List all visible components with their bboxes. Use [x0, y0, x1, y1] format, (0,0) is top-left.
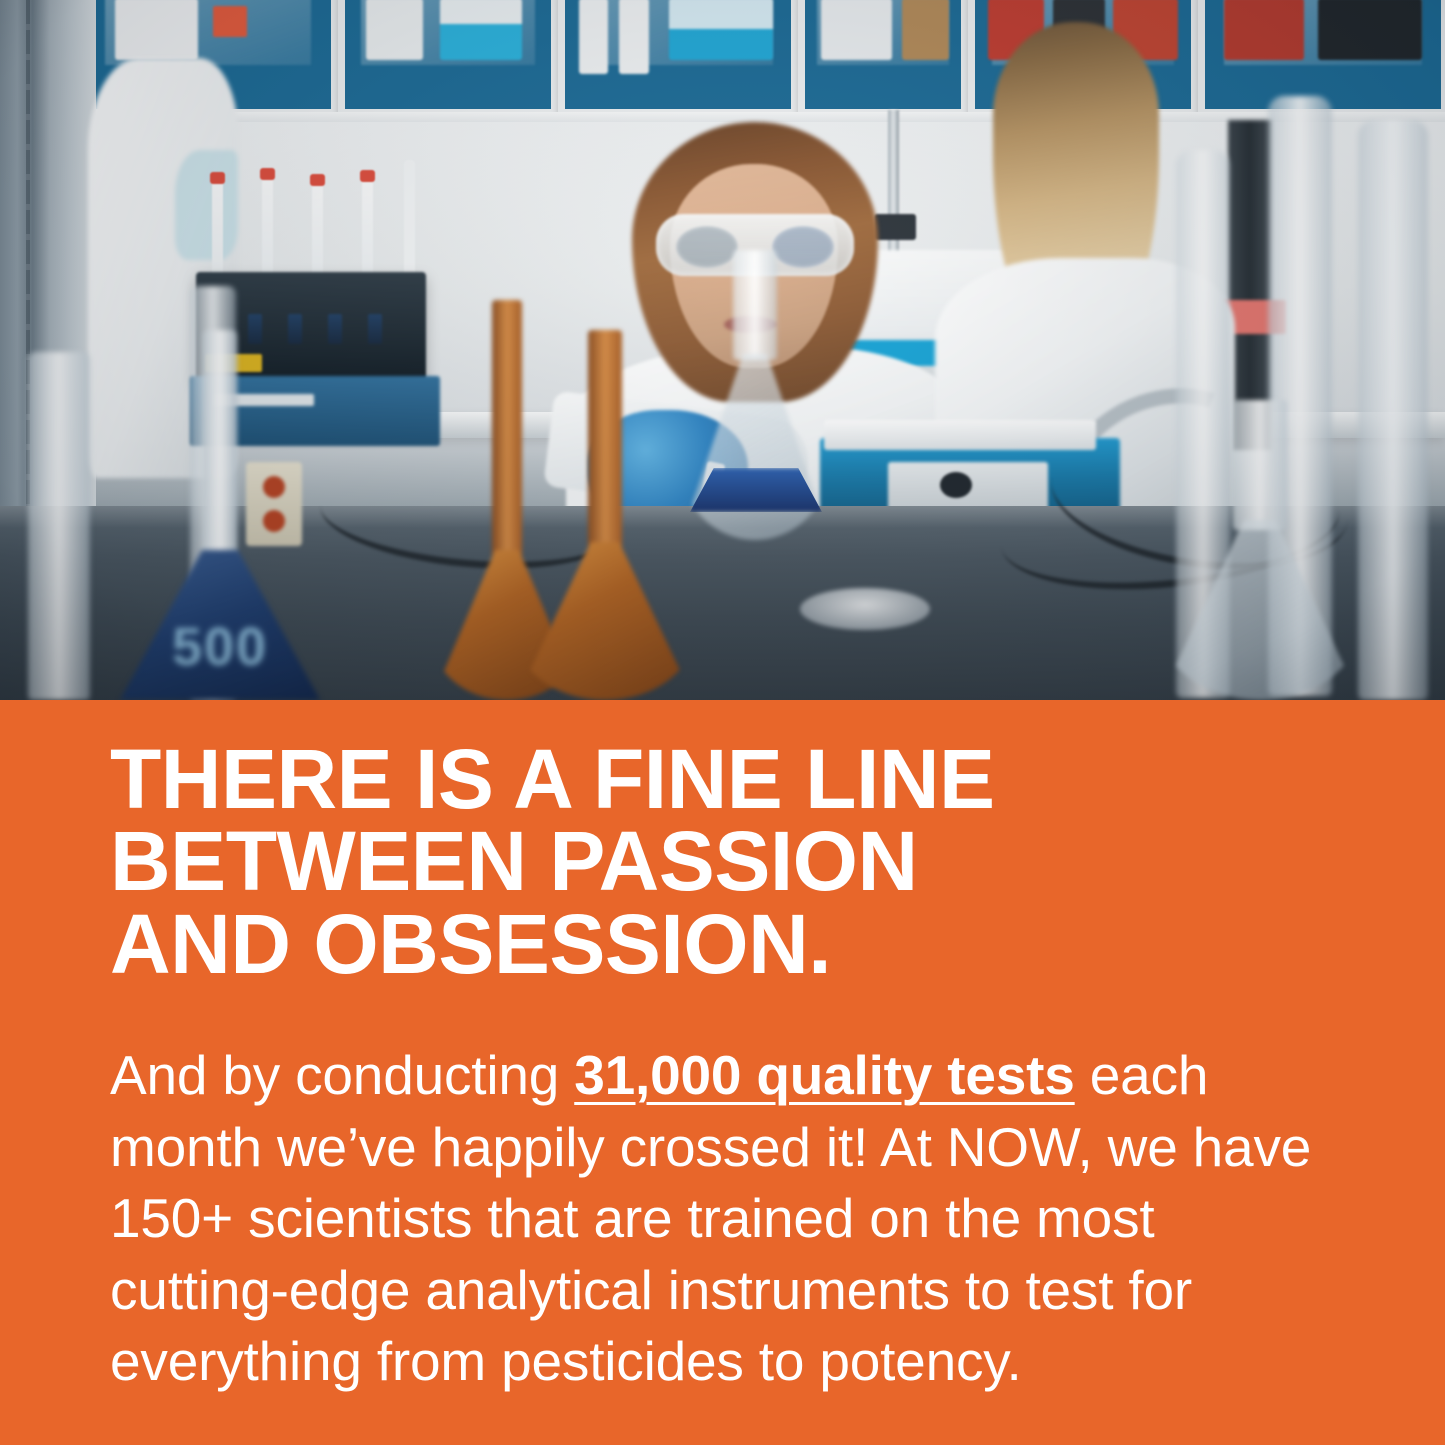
volumetric-flask-500: 500 — [120, 330, 320, 700]
shelf-item — [440, 0, 522, 60]
shelf-item — [821, 0, 893, 60]
shelf-item — [115, 0, 199, 60]
amber-volumetric-flask — [516, 330, 694, 700]
shelf-item — [213, 6, 247, 37]
headline-line-3: AND OBSESSION. — [110, 903, 1340, 985]
instrument-white-top — [824, 420, 1096, 450]
tube-cap — [210, 172, 225, 184]
shelf-item — [1224, 0, 1304, 60]
quality-tests-emphasis: 31,000 quality tests — [574, 1044, 1074, 1106]
autosampler-vial — [368, 314, 382, 344]
cabinet — [558, 0, 798, 116]
marketing-poster: 500 THERE IS A FINE LINE BETWEE — [0, 0, 1445, 1445]
flask-bulb — [680, 354, 830, 540]
lab-photo: 500 — [0, 0, 1445, 700]
body-text-before: And by conducting — [110, 1044, 574, 1106]
flask-neck — [203, 330, 237, 580]
autosampler-vial — [328, 314, 342, 344]
shelf-item — [669, 0, 773, 60]
orange-text-panel: THERE IS A FINE LINE BETWEEN PASSION AND… — [0, 700, 1445, 1445]
flask-bulb — [1160, 520, 1360, 700]
headline-line-1: THERE IS A FINE LINE — [110, 738, 1340, 820]
headline-line-2: BETWEEN PASSION — [110, 820, 1340, 902]
page-title: THERE IS A FINE LINE BETWEEN PASSION AND… — [110, 738, 1340, 985]
tube-cap — [360, 170, 375, 182]
instrument-display — [940, 472, 972, 498]
shelf-item — [619, 0, 648, 74]
shelf-item — [366, 0, 424, 60]
body-paragraph: And by conducting 31,000 quality tests e… — [110, 1040, 1325, 1398]
glass-bottle — [1358, 120, 1428, 700]
shelf-item — [579, 0, 608, 74]
shelf-item — [1318, 0, 1422, 60]
tube-cap — [260, 168, 275, 180]
tube-cap — [310, 174, 325, 186]
flask-bulb — [516, 542, 694, 700]
cabinet — [338, 0, 558, 116]
flask-neck — [733, 250, 777, 360]
petri-dish — [800, 588, 930, 630]
flask-neck — [1233, 400, 1287, 530]
flask-volume-label: 500 — [152, 616, 288, 678]
graduated-cylinder — [28, 352, 90, 700]
erlenmeyer-flask — [1160, 400, 1360, 700]
flask-neck — [588, 330, 622, 566]
lab-coat-collar — [175, 150, 238, 259]
